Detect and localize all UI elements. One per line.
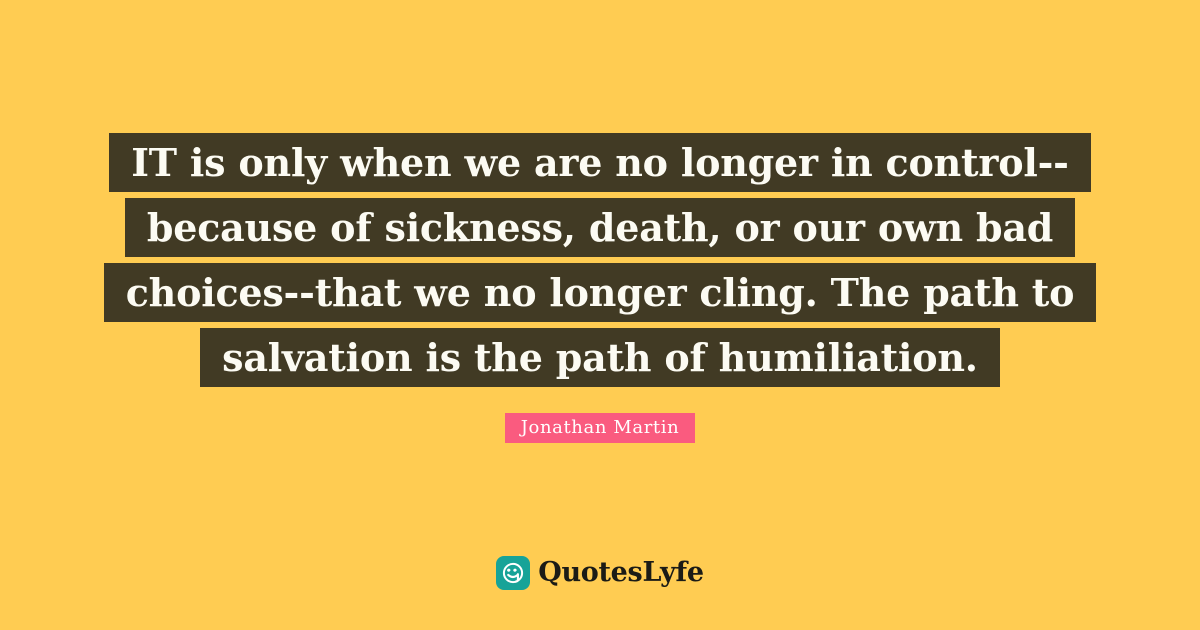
author-name-badge: Jonathan Martin (505, 413, 696, 443)
quote-card: IT is only when we are no longer in cont… (0, 0, 1200, 630)
quote-text: IT is only when we are no longer in cont… (0, 133, 1200, 387)
quote-line: because of sickness, death, or our own b… (125, 198, 1075, 257)
brand-wordmark: QuotesLyfe (538, 556, 704, 590)
brand-logo: QuotesLyfe (0, 556, 1200, 590)
quote-line: IT is only when we are no longer in cont… (109, 133, 1091, 192)
quote-line: choices--that we no longer cling. The pa… (104, 263, 1097, 322)
quote-line: salvation is the path of humiliation. (200, 328, 1000, 387)
quote-smiley-icon (496, 556, 530, 590)
author-badge-container: Jonathan Martin (0, 413, 1200, 443)
